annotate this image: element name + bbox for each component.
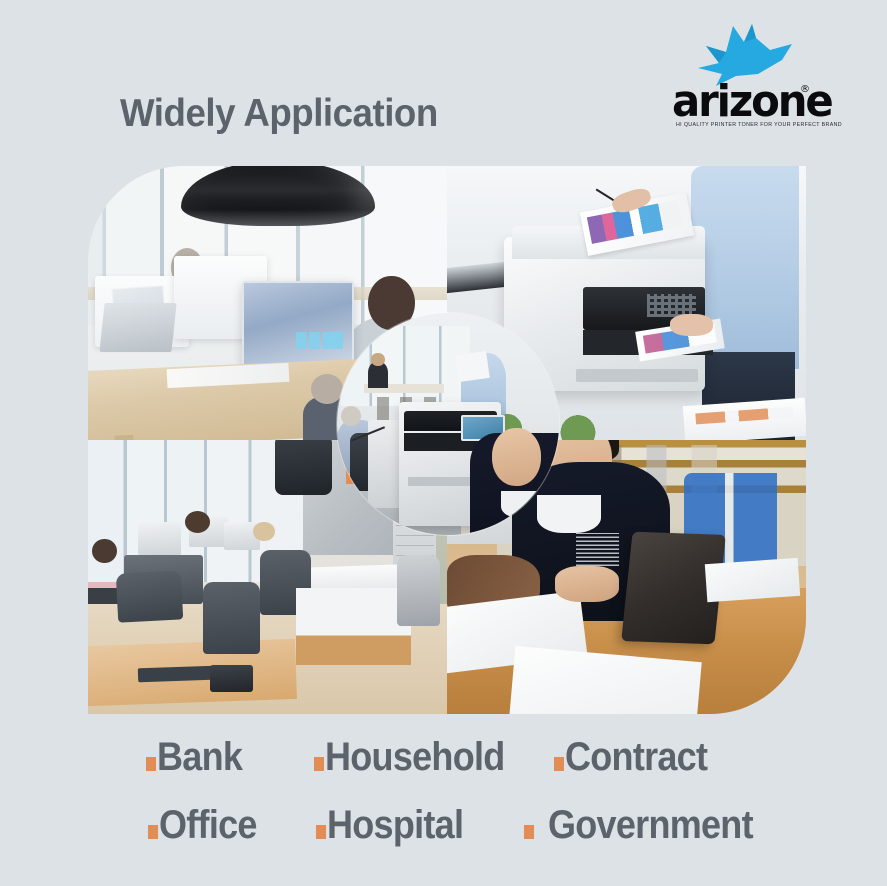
- application-label-row: Bank Household Contract: [0, 726, 887, 788]
- school-crest: [576, 533, 619, 566]
- laptop: [100, 303, 177, 352]
- bullet-square-icon: [146, 757, 156, 771]
- shirt-collar: [501, 491, 537, 518]
- application-label-row: Office Hospital Government: [0, 794, 887, 856]
- desk-phone: [210, 665, 253, 692]
- application-item-office: Office: [148, 801, 268, 849]
- person-head: [92, 539, 117, 564]
- office-chair: [275, 440, 332, 495]
- application-item-bank: Bank: [146, 733, 252, 781]
- student-hand: [555, 566, 620, 602]
- application-item-government: Government: [524, 801, 776, 849]
- application-label: Hospital: [327, 801, 463, 849]
- bullet-square-icon: [316, 825, 326, 839]
- monitor: [138, 522, 181, 555]
- window-wall: [341, 326, 470, 406]
- application-item-household: Household: [314, 733, 524, 781]
- printer-paper-tray: [576, 369, 698, 383]
- person-head: [185, 511, 210, 533]
- application-label: Household: [325, 733, 505, 781]
- held-paper: [455, 351, 489, 382]
- poster-canvas: Widely Application arizone ® HI QUALITY …: [0, 0, 887, 886]
- application-label: Government: [548, 801, 753, 849]
- application-label: Contract: [565, 733, 707, 781]
- application-label: Office: [159, 801, 257, 849]
- bullet-square-icon: [314, 757, 324, 771]
- registered-mark: ®: [800, 84, 810, 95]
- brand-logo: arizone ® HI QUALITY PRINTER TONER FOR Y…: [672, 22, 832, 134]
- bullet-square-icon: [524, 825, 534, 839]
- person-hand: [670, 314, 713, 336]
- application-item-hospital: Hospital: [316, 801, 478, 849]
- application-labels: Bank Household Contract Office Hospital: [0, 726, 887, 866]
- office-chair: [115, 570, 182, 623]
- paper-sheet: [704, 557, 800, 602]
- pendant-lamp: [181, 166, 375, 226]
- image-collage: [88, 166, 806, 714]
- office-chair: [397, 555, 440, 626]
- credenza: [296, 588, 411, 665]
- bullet-square-icon: [554, 757, 564, 771]
- brand-tagline: HI QUALITY PRINTER TONER FOR YOUR PERFEC…: [676, 122, 835, 128]
- page-title: Widely Application: [120, 92, 438, 136]
- office-chair: [203, 582, 260, 653]
- office-copier-machine-photo: [337, 313, 559, 535]
- person-head: [371, 353, 384, 366]
- person-head: [253, 522, 275, 541]
- plant: [555, 415, 602, 440]
- application-item-contract: Contract: [554, 733, 723, 781]
- student-head: [492, 428, 541, 486]
- bullet-square-icon: [148, 825, 158, 839]
- application-label: Bank: [157, 733, 242, 781]
